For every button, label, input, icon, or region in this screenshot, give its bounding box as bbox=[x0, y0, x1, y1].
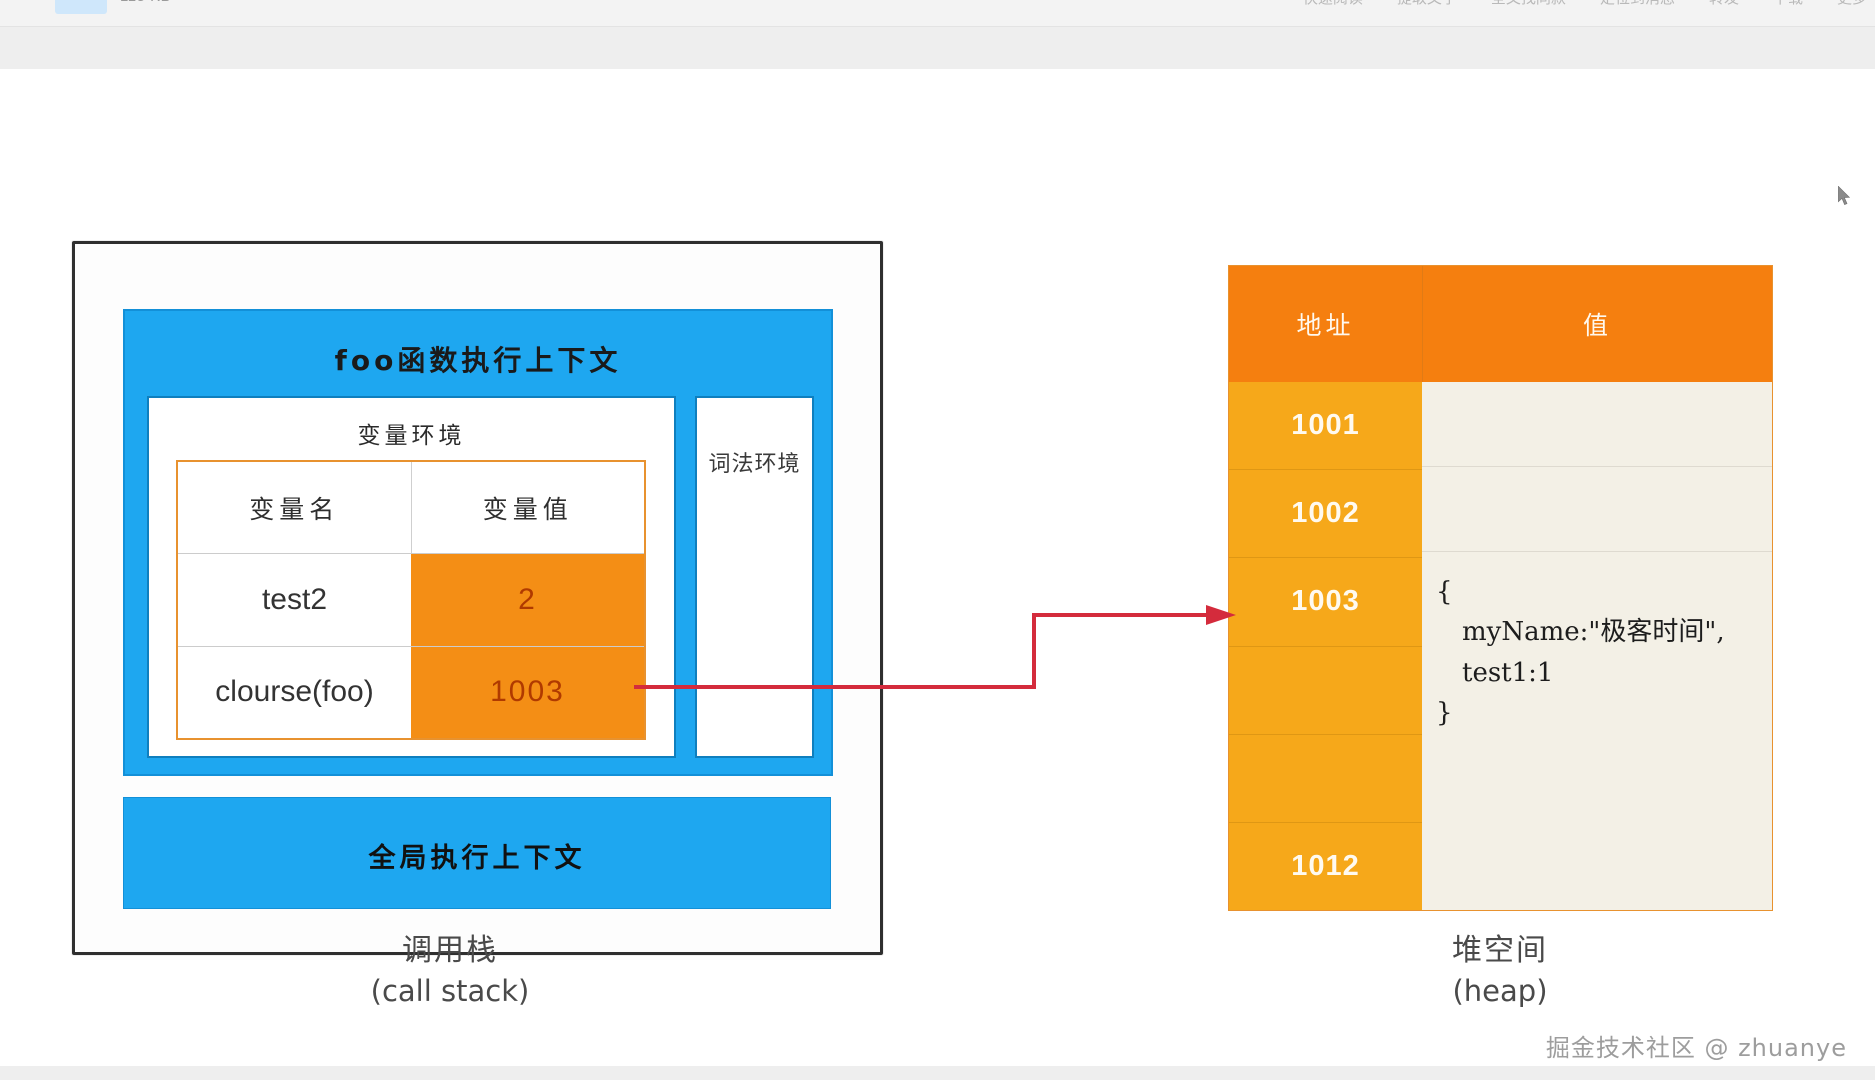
call-stack-caption-cn: 调用栈 bbox=[250, 931, 650, 972]
lexical-environment-title: 词法环境 bbox=[697, 446, 812, 478]
foo-execution-context: foo函数执行上下文 变量环境 变量名 变量值 test2 2 clourse(… bbox=[123, 309, 833, 776]
image-canvas: foo函数执行上下文 变量环境 变量名 变量值 test2 2 clourse(… bbox=[0, 69, 1875, 1041]
cell-variable-name-clourse: clourse(foo) bbox=[178, 647, 411, 738]
variable-table-header-row: 变量名 变量值 bbox=[178, 462, 644, 553]
viewer-background-top bbox=[0, 27, 1875, 69]
object-line-close: } bbox=[1436, 693, 1772, 733]
heap-table-body: 1001 1002 1003 1012 { myName:"极客时间", tes… bbox=[1229, 382, 1772, 910]
heap-address-blank-1 bbox=[1229, 647, 1422, 735]
variable-environment-title: 变量环境 bbox=[149, 416, 674, 450]
tool-locate-message[interactable]: 定位到消息 bbox=[1600, 0, 1675, 8]
app-topbar: 115 KB 快速阅读 提取文字 全文找同款 定位到消息 转发 下载 更多 bbox=[0, 0, 1875, 26]
heap-value-empty-1001 bbox=[1422, 382, 1772, 467]
tool-extract-text[interactable]: 提取文字 bbox=[1397, 0, 1457, 8]
heap-address-1003: 1003 bbox=[1229, 558, 1422, 646]
watermark-label: 掘金技术社区 @ zhuanye bbox=[1546, 1028, 1847, 1063]
header-variable-value: 变量值 bbox=[411, 462, 645, 553]
table-row: clourse(foo) 1003 bbox=[178, 646, 644, 738]
heap-caption: 堆空间 (heap) bbox=[1300, 931, 1700, 1011]
tool-forward[interactable]: 转发 bbox=[1709, 0, 1739, 8]
heap-header-value: 值 bbox=[1423, 266, 1772, 382]
heap-value-column: { myName:"极客时间", test1:1 } bbox=[1422, 382, 1772, 910]
file-size-label: 115 KB bbox=[120, 0, 171, 5]
heap-caption-cn: 堆空间 bbox=[1300, 931, 1700, 972]
variable-table: 变量名 变量值 test2 2 clourse(foo) 1003 bbox=[176, 460, 646, 740]
heap-address-1012: 1012 bbox=[1229, 823, 1422, 910]
object-line-open: { bbox=[1436, 572, 1772, 612]
image-tool-menu[interactable]: 快速阅读 提取文字 全文找同款 定位到消息 转发 下载 更多 bbox=[1303, 0, 1867, 8]
tool-more[interactable]: 更多 bbox=[1837, 0, 1867, 8]
global-context-title: 全局执行上下文 bbox=[124, 836, 830, 875]
call-stack-caption: 调用栈 (call stack) bbox=[250, 931, 650, 1011]
object-line-myname: myName:"极客时间", bbox=[1436, 612, 1772, 652]
heap-value-empty-1002 bbox=[1422, 467, 1772, 552]
heap-address-column: 1001 1002 1003 1012 bbox=[1229, 382, 1422, 910]
cell-variable-value-test2: 2 bbox=[411, 554, 644, 645]
heap-address-1002: 1002 bbox=[1229, 470, 1422, 558]
file-thumbnail[interactable] bbox=[55, 0, 107, 14]
viewer-background-bottom bbox=[0, 1066, 1875, 1080]
tool-quick-read[interactable]: 快速阅读 bbox=[1303, 0, 1363, 8]
heap-value-object-1003: { myName:"极客时间", test1:1 } bbox=[1422, 552, 1772, 910]
object-line-test1: test1:1 bbox=[1436, 653, 1772, 693]
call-stack-caption-en: (call stack) bbox=[250, 972, 650, 1011]
variable-environment-box: 变量环境 变量名 变量值 test2 2 clourse(foo) 1003 bbox=[147, 396, 676, 758]
table-row: test2 2 bbox=[178, 553, 644, 645]
lexical-environment-box: 词法环境 bbox=[695, 396, 814, 758]
cell-variable-value-clourse: 1003 bbox=[411, 647, 644, 738]
heap-header-address: 地址 bbox=[1229, 266, 1423, 382]
cell-variable-name-test2: test2 bbox=[178, 554, 411, 645]
tool-find-similar[interactable]: 全文找同款 bbox=[1491, 0, 1566, 8]
heap-address-1001: 1001 bbox=[1229, 382, 1422, 470]
header-variable-name: 变量名 bbox=[178, 462, 411, 553]
heap-address-blank-2 bbox=[1229, 735, 1422, 823]
heap-caption-en: (heap) bbox=[1300, 972, 1700, 1011]
heap-table: 地址 值 1001 1002 1003 1012 { myName:"极客时间"… bbox=[1228, 265, 1773, 911]
global-execution-context: 全局执行上下文 bbox=[123, 797, 831, 909]
foo-context-title: foo函数执行上下文 bbox=[125, 339, 831, 379]
tool-download[interactable]: 下载 bbox=[1773, 0, 1803, 8]
call-stack-container: foo函数执行上下文 变量环境 变量名 变量值 test2 2 clourse(… bbox=[72, 241, 883, 955]
heap-table-header-row: 地址 值 bbox=[1229, 266, 1772, 382]
